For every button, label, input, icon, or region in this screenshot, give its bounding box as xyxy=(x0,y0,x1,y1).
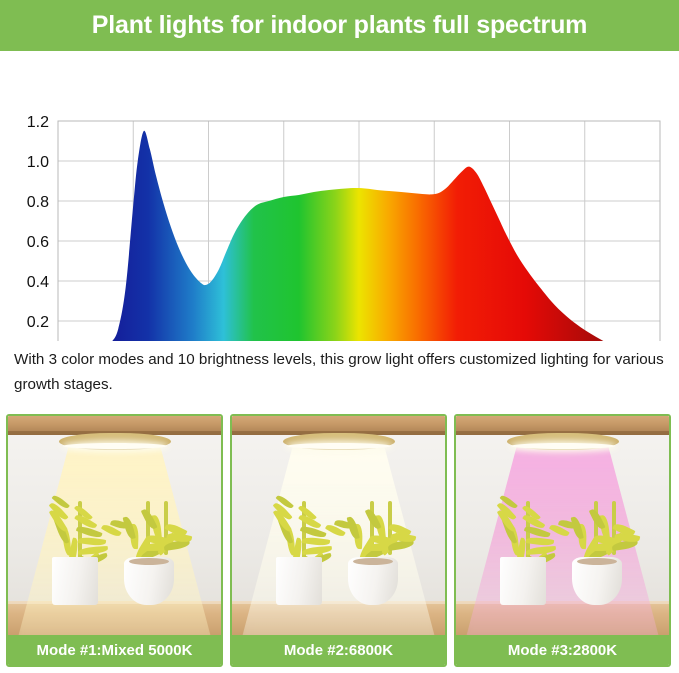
round-white-pot xyxy=(348,557,398,605)
svg-text:1.2: 1.2 xyxy=(27,114,49,131)
spectrum-chart: 0.00.20.40.60.81.01.2 380430480530580630… xyxy=(0,51,679,341)
round-white-pot xyxy=(572,557,622,605)
spectrum-chart-canvas: 0.00.20.40.60.81.01.2 380430480530580630… xyxy=(0,51,679,341)
mode-caption-text: Mode #3:2800K xyxy=(508,642,617,659)
round-ceiling-lamp-icon xyxy=(507,433,619,450)
potted-plants xyxy=(8,470,221,605)
svg-text:0.4: 0.4 xyxy=(27,274,49,291)
svg-text:0.8: 0.8 xyxy=(27,194,49,211)
potted-plants xyxy=(232,470,445,605)
round-ceiling-lamp-icon xyxy=(283,433,395,450)
description-text: With 3 color modes and 10 brightness lev… xyxy=(14,347,667,397)
svg-text:0.2: 0.2 xyxy=(27,314,49,331)
mode-caption-bar: Mode #3:2800K xyxy=(456,635,669,665)
mode-caption-bar: Mode #1:Mixed 5000K xyxy=(8,635,221,665)
mode-photo xyxy=(8,416,221,635)
round-white-pot xyxy=(124,557,174,605)
svg-text:0.6: 0.6 xyxy=(27,234,49,251)
mode-panel[interactable]: Mode #3:2800K xyxy=(454,414,671,667)
lamp-light-ring xyxy=(287,443,391,449)
mode-panel[interactable]: Mode #2:6800K xyxy=(230,414,447,667)
svg-text:1.0: 1.0 xyxy=(27,154,49,171)
lamp-light-ring xyxy=(511,443,615,449)
mode-caption-text: Mode #2:6800K xyxy=(284,642,393,659)
header-banner: Plant lights for indoor plants full spec… xyxy=(0,0,679,51)
mode-caption-text: Mode #1:Mixed 5000K xyxy=(37,642,193,659)
mode-panel[interactable]: Mode #1:Mixed 5000K xyxy=(6,414,223,667)
square-white-pot xyxy=(52,557,98,605)
page-title: Plant lights for indoor plants full spec… xyxy=(92,11,587,40)
mode-photo xyxy=(232,416,445,635)
mode-photo xyxy=(456,416,669,635)
mode-caption-bar: Mode #2:6800K xyxy=(232,635,445,665)
potted-plants xyxy=(456,470,669,605)
round-ceiling-lamp-icon xyxy=(59,433,171,450)
lamp-light-ring xyxy=(63,443,167,449)
square-white-pot xyxy=(276,557,322,605)
mode-panels-row: Mode #1:Mixed 5000KMode #2:6800KMode #3:… xyxy=(6,414,671,667)
description-block: With 3 color modes and 10 brightness lev… xyxy=(0,341,679,397)
square-white-pot xyxy=(500,557,546,605)
chart-y-tick-labels: 0.00.20.40.60.81.01.2 xyxy=(27,114,49,341)
